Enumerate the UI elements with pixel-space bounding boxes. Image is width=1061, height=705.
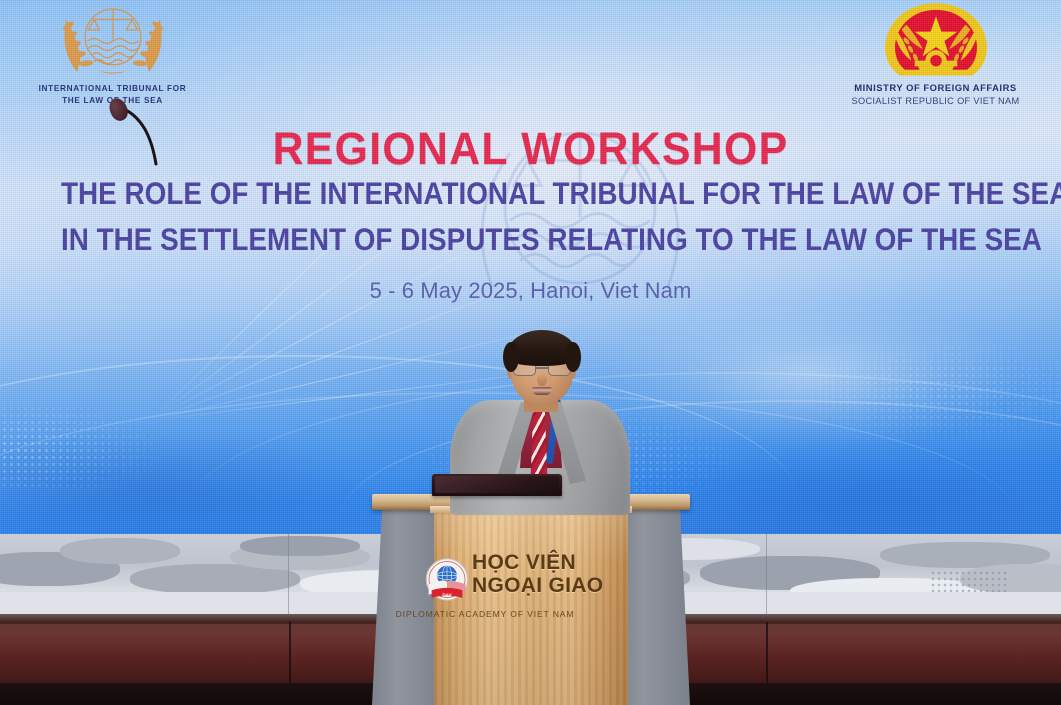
speaker-hair xyxy=(506,330,578,366)
workshop-subtitle-line-1: THE ROLE OF THE INTERNATIONAL TRIBUNAL F… xyxy=(61,178,1000,210)
mofa-logo: MINISTRY OF FOREIGN AFFAIRS SOCIALIST RE… xyxy=(828,0,1043,107)
plaque-line-1: HỌC VIỆN xyxy=(472,552,640,575)
laptop-screen xyxy=(435,476,559,493)
stage-seam xyxy=(766,622,768,692)
podium-plaque-text: HỌC VIỆN NGOẠI GIAO xyxy=(472,552,640,597)
plaque-line-2: NGOẠI GIAO xyxy=(472,575,640,598)
itlos-emblem-icon xyxy=(53,2,173,80)
marble-blob xyxy=(240,536,360,556)
podium: DAV HỌC VIỆN NGOẠI GIAO DIPLOMATIC ACADE… xyxy=(372,494,690,705)
laptop-on-podium xyxy=(432,474,562,496)
svg-text:DAV: DAV xyxy=(442,592,452,597)
itlos-caption-line1: INTERNATIONAL TRIBUNAL FOR xyxy=(20,83,205,95)
podium-plaque: DAV HỌC VIỆN NGOẠI GIAO DIPLOMATIC ACADE… xyxy=(372,550,690,632)
workshop-subtitle-line-2: IN THE SETTLEMENT OF DISPUTES RELATING T… xyxy=(61,224,1000,256)
itlos-logo: INTERNATIONAL TRIBUNAL FOR THE LAW OF TH… xyxy=(20,2,205,107)
plaque-line-3: DIPLOMATIC ACADEMY OF VIET NAM xyxy=(372,609,598,619)
wall-panel-seam xyxy=(288,534,289,614)
speaker-mouth xyxy=(532,387,552,395)
conference-photo: INTERNATIONAL TRIBUNAL FOR THE LAW OF TH… xyxy=(0,0,1061,705)
mofa-caption-line2: SOCIALIST REPUBLIC OF VIET NAM xyxy=(828,95,1043,107)
vietnam-national-emblem-icon xyxy=(877,0,995,82)
mofa-caption-line1: MINISTRY OF FOREIGN AFFAIRS xyxy=(828,82,1043,95)
wall-panel-seam xyxy=(766,534,767,614)
stage-seam xyxy=(289,622,291,692)
marble-dots xyxy=(930,570,1010,592)
workshop-date-location: 5 - 6 May 2025, Hanoi, Viet Nam xyxy=(0,278,1061,304)
marble-blob xyxy=(60,538,180,564)
diplomatic-academy-globe-book-icon: DAV xyxy=(424,556,470,606)
eyeglass-bridge xyxy=(536,367,548,369)
